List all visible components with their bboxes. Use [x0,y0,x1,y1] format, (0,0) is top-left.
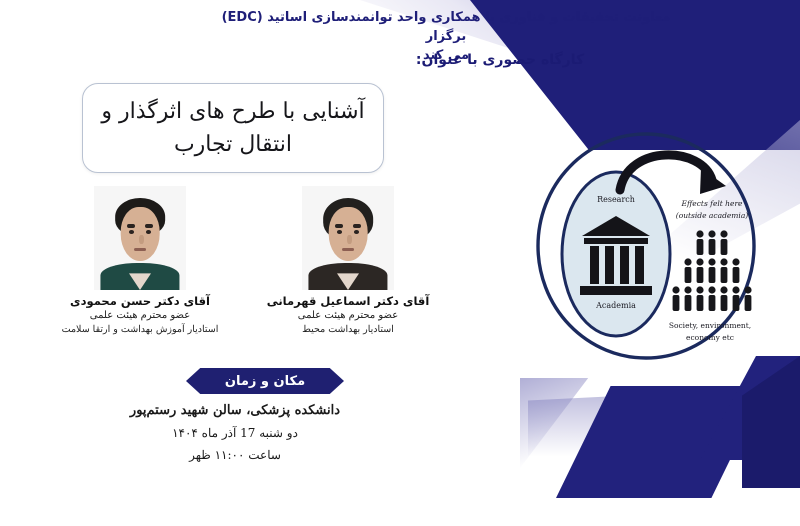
venue-details: دانشکده پزشکی، سالن شهید رستم‌پور دو شنب… [0,400,470,466]
diagram-label-society-line-2: economy etc [686,333,734,342]
workshop-title-line-1: آشنایی با طرح های اثرگذار و [87,95,378,128]
speaker-name-ghahremani: آقای دکتر اسماعیل قهرمانی [258,294,438,309]
header-line-1: معاونت تحقیقات و فناوری با همکاری واحد ت… [0,8,800,46]
diagram-label-research: Research [597,195,635,204]
venue-time-banner: مکان و زمان [186,368,344,394]
speaker-photo-mahmoudi [94,186,186,290]
workshop-title-box: آشنایی با طرح های اثرگذار و انتقال تجارب [82,83,384,173]
diagram-label-effects-line-1: Effects felt here [681,199,744,208]
venue-place: دانشکده پزشکی، سالن شهید رستم‌پور [0,400,470,422]
diagram-label-academia: Academia [595,301,636,310]
diagram-label-society-line-1: Society, environment, [669,321,751,330]
bottom-right-navy-parallelogram [556,386,766,498]
venue-date: دو شنبه 17 آذر ماه ۱۴۰۴ [0,422,470,444]
bottom-right-soft-shape-1 [520,378,630,468]
speaker-card-mahmoudi: آقای دکتر حسن محمودی عضو محترم هیئت علمی… [50,186,230,337]
speaker-photo-ghahremani [302,186,394,290]
speaker-specialty-mahmoudi: استادیار آموزش بهداشت و ارتقا سلامت [50,323,230,337]
diagram-label-effects-line-2: (outside academia) [676,211,749,220]
speakers-section: آقای دکتر حسن محمودی عضو محترم هیئت علمی… [34,186,454,337]
speaker-specialty-ghahremani: استادیار بهداشت محیط [258,323,438,337]
workshop-title-line-2: انتقال تجارب [87,128,378,161]
bottom-right-soft-shape-2 [528,396,618,472]
header-subtitle: کارگاه حضوری با عنوان: [0,52,800,68]
workshop-title: آشنایی با طرح های اثرگذار و انتقال تجارب [87,95,378,161]
venue-time: ساعت ۱۱:۰۰ ظهر [0,444,470,466]
speaker-card-ghahremani: آقای دکتر اسماعیل قهرمانی عضو محترم هیئت… [258,186,438,337]
speaker-role-ghahremani: عضو محترم هیئت علمی [258,309,438,323]
bottom-right-navy-triangle [700,356,800,460]
research-impact-diagram: Research Academia Effects felt here (out… [524,128,786,360]
speaker-role-mahmoudi: عضو محترم هیئت علمی [50,309,230,323]
venue-time-banner-label: مکان و زمان [225,374,305,389]
poster-canvas: معاونت تحقیقات و فناوری با همکاری واحد ت… [0,0,800,526]
speaker-name-mahmoudi: آقای دکتر حسن محمودی [50,294,230,309]
bottom-right-navy-triangle-2 [742,356,800,488]
